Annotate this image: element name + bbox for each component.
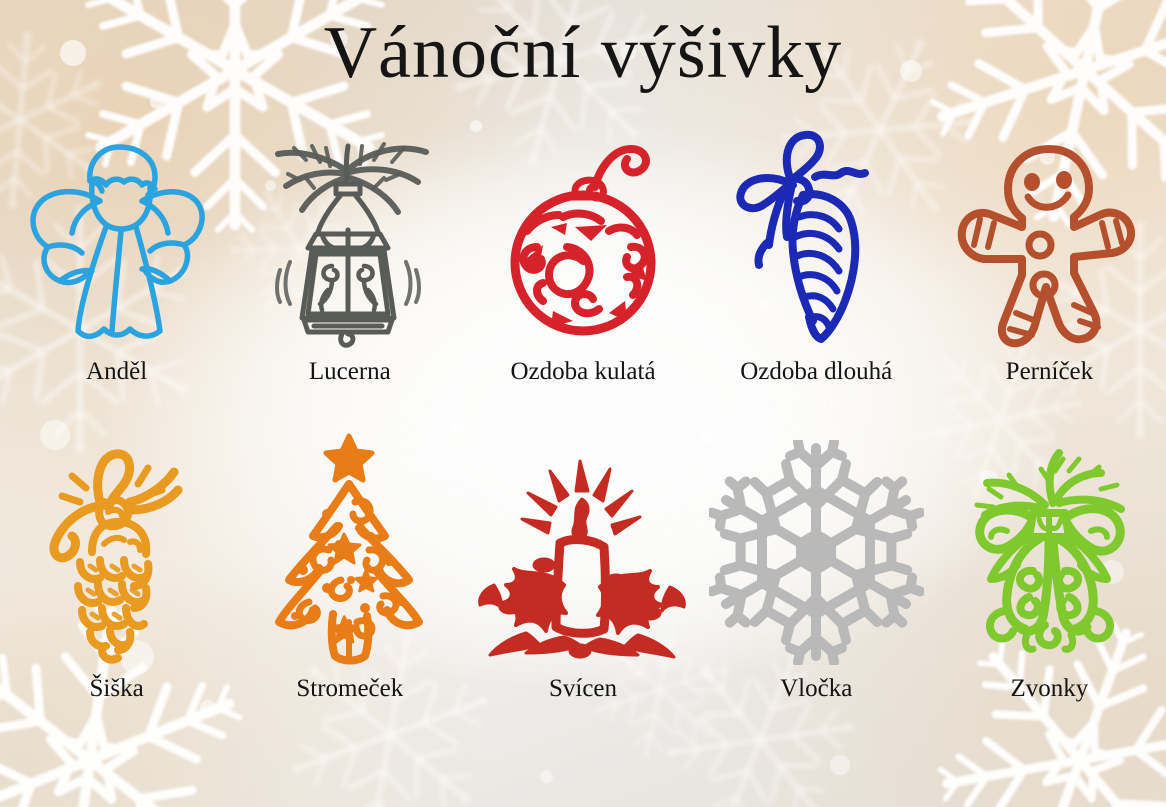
long-ornament-embroidery-art xyxy=(729,125,904,350)
christmas-tree-icon xyxy=(265,430,435,665)
design-item-andel[interactable]: Anděl xyxy=(0,125,233,410)
round-ornament-embroidery-art xyxy=(491,125,676,350)
gingerbread-man-icon xyxy=(952,135,1147,350)
gingerbread-embroidery-art xyxy=(952,125,1147,350)
design-label-lucerna: Lucerna xyxy=(309,358,391,386)
design-item-ozdoba-dlouha[interactable]: Ozdoba dlouhá xyxy=(700,125,933,410)
design-label-andel: Anděl xyxy=(86,358,147,386)
christmas-tree-embroidery-art xyxy=(265,430,435,665)
angel-icon xyxy=(22,135,212,350)
design-label-ozdoba-dlouha: Ozdoba dlouhá xyxy=(740,358,892,386)
design-item-vlocka[interactable]: Vločka xyxy=(700,430,933,760)
angel-embroidery-art xyxy=(22,125,212,350)
design-label-stromecek: Stromeček xyxy=(296,675,403,703)
design-label-siska: Šiška xyxy=(90,675,144,703)
round-ornament-icon xyxy=(491,135,676,350)
design-label-svicen: Svícen xyxy=(549,675,617,703)
bells-embroidery-art xyxy=(949,430,1149,665)
design-label-vlocka: Vločka xyxy=(780,675,852,703)
snowflake-icon xyxy=(709,440,924,665)
design-label-pernicek: Perníček xyxy=(1006,358,1093,386)
pinecone-embroidery-art xyxy=(34,430,199,665)
pinecone-icon xyxy=(34,440,199,665)
design-item-stromecek[interactable]: Stromeček xyxy=(233,430,466,760)
design-item-siska[interactable]: Šiška xyxy=(0,430,233,760)
lantern-icon xyxy=(260,130,440,350)
design-item-svicen[interactable]: Svícen xyxy=(466,430,699,760)
snowflake-embroidery-art xyxy=(709,430,924,665)
page-title: Vánoční výšivky xyxy=(0,16,1166,90)
design-item-lucerna[interactable]: Lucerna xyxy=(233,125,466,410)
design-row-2: Šiška xyxy=(0,430,1166,760)
candle-holly-icon xyxy=(468,455,698,665)
poster: Vánoční výšivky xyxy=(0,0,1166,807)
candle-holly-embroidery-art xyxy=(468,430,698,665)
long-ornament-icon xyxy=(729,125,904,350)
lantern-embroidery-art xyxy=(260,125,440,350)
design-item-pernicek[interactable]: Perníček xyxy=(933,125,1166,410)
design-item-zvonky[interactable]: Zvonky xyxy=(933,430,1166,760)
design-label-ozdoba-kulata: Ozdoba kulatá xyxy=(510,358,655,386)
design-row-1: Anděl xyxy=(0,125,1166,410)
bells-icon xyxy=(949,445,1149,665)
design-item-ozdoba-kulata[interactable]: Ozdoba kulatá xyxy=(466,125,699,410)
design-label-zvonky: Zvonky xyxy=(1011,675,1089,703)
